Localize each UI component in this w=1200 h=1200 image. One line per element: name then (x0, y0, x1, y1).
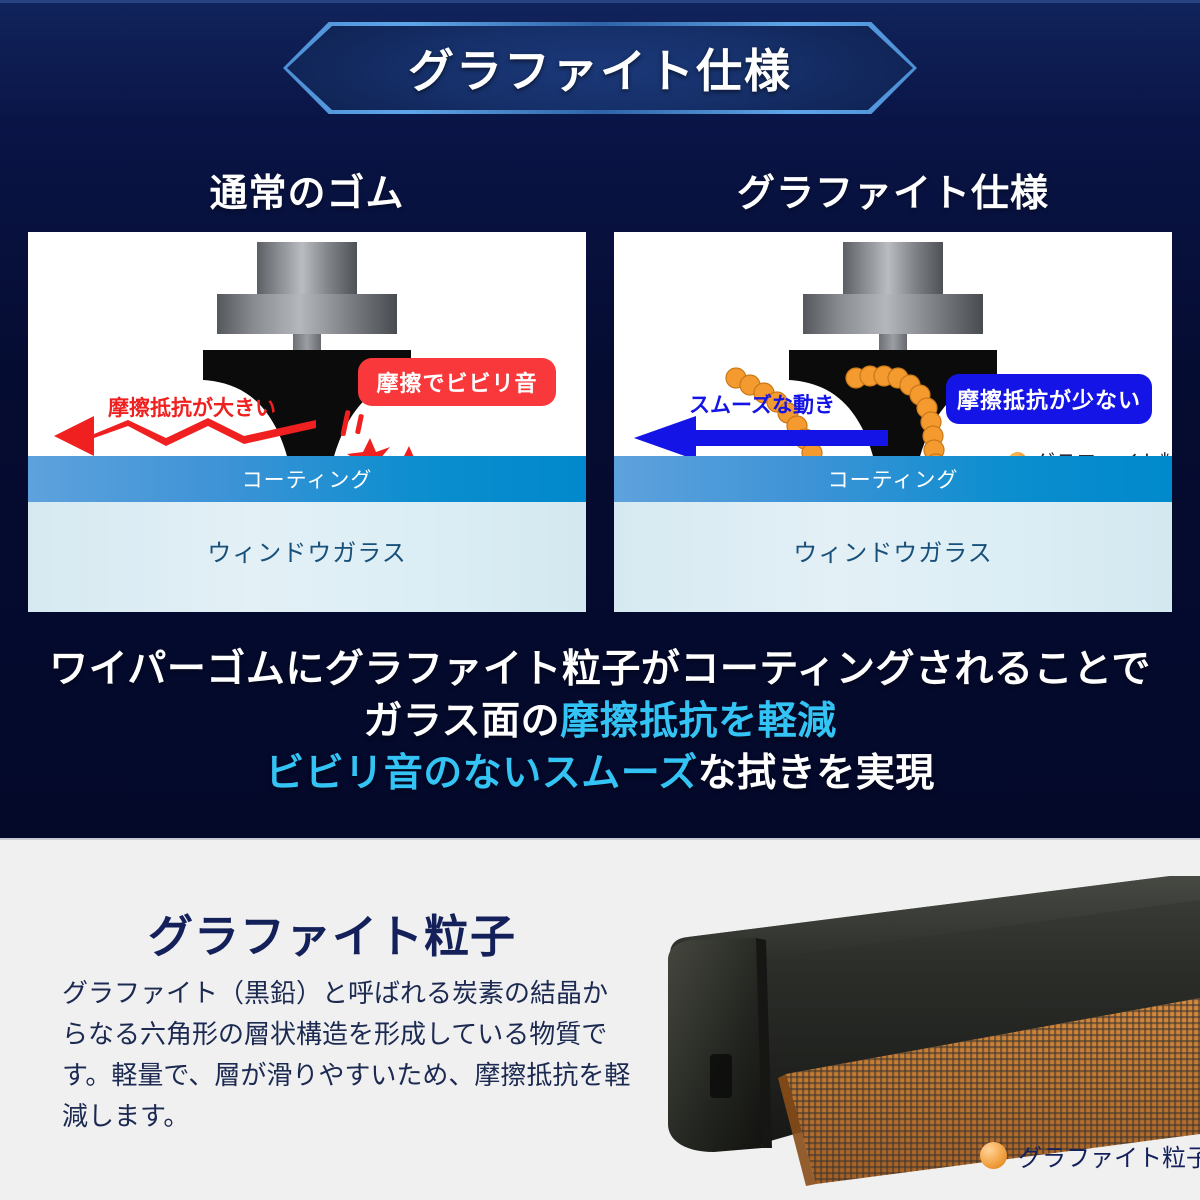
diagram-normal: 摩擦抵抗が大きい 摩擦でビビリ音 (28, 232, 586, 612)
summary-line-3: ビビリ音のないスムーズな拭きを実現 (0, 748, 1200, 800)
header-banner: グラファイト仕様 (283, 22, 917, 114)
top-hairline (0, 0, 1200, 3)
layer-coating-label: コーティング (242, 464, 373, 494)
top-section: グラファイト仕様 通常のゴム グラファイト仕様 (0, 0, 1200, 838)
layer-coating-normal: コーティング (28, 456, 586, 502)
infographic-page: グラファイト仕様 通常のゴム グラファイト仕様 (0, 0, 1200, 1200)
layer-coating-graphite: コーティング (614, 456, 1172, 502)
panel-title-graphite: グラファイト仕様 (586, 162, 1200, 217)
bottom-section: グラファイト粒子 グラファイト（黒鉛）と呼ばれる炭素の結晶からなる六角形の層状構… (0, 838, 1200, 1200)
panel-title-normal: 通常のゴム (0, 162, 614, 217)
diagram-card-graphite: スムーズな動き 摩擦抵抗が少ない グラファイト粒子 コーティング ウィンドウガラ… (614, 232, 1172, 612)
layer-glass-label: ウィンドウガラス (207, 533, 407, 568)
summary-line-2-highlight: 摩擦抵抗を軽減 (560, 700, 837, 743)
badge-low-friction: 摩擦抵抗が少ない (946, 374, 1152, 424)
summary-line-2-plain: ガラス面の (363, 700, 560, 743)
friction-arrow-label-normal: 摩擦抵抗が大きい (108, 392, 276, 422)
layer-glass-graphite: ウィンドウガラス (614, 502, 1172, 612)
badge-chatter-noise: 摩擦でビビリ音 (358, 358, 556, 406)
photo-legend: グラファイト粒子 (980, 1138, 1200, 1173)
layer-glass-normal: ウィンドウガラス (28, 502, 586, 612)
bottom-section-body: グラファイト（黒鉛）と呼ばれる炭素の結晶からなる六角形の層状構造を形成している物… (62, 973, 632, 1137)
summary-line-3-highlight-a: ビビリ音のない (265, 752, 542, 795)
graphite-particle-icon (980, 1142, 1007, 1169)
smooth-motion-label: スムーズな動き (689, 389, 835, 419)
smooth-motion-arrow-blue (630, 414, 890, 462)
diagram-card-normal: 摩擦抵抗が大きい 摩擦でビビリ音 (28, 232, 586, 612)
summary-line-1: ワイパーゴムにグラファイト粒子がコーティングされることで (0, 644, 1200, 696)
layer-coating-label: コーティング (828, 464, 959, 494)
summary-line-2: ガラス面の摩擦抵抗を軽減 (0, 696, 1200, 748)
bottom-divider (0, 838, 1200, 840)
wiper-metal-flange (217, 294, 397, 334)
bottom-section-title: グラファイト粒子 (148, 900, 516, 965)
diagram-graphite: スムーズな動き 摩擦抵抗が少ない グラファイト粒子 コーティング ウィンドウガラ… (614, 232, 1172, 612)
summary-line-3-plain: な拭きを実現 (698, 752, 935, 795)
photo-legend-label: グラファイト粒子 (1018, 1138, 1200, 1173)
summary-line-3-highlight-b: スムーズ (542, 752, 698, 795)
banner-title: グラファイト仕様 (283, 22, 917, 114)
summary-text-block: ワイパーゴムにグラファイト粒子がコーティングされることで ガラス面の摩擦抵抗を軽… (0, 644, 1200, 800)
layer-glass-label: ウィンドウガラス (793, 533, 993, 568)
